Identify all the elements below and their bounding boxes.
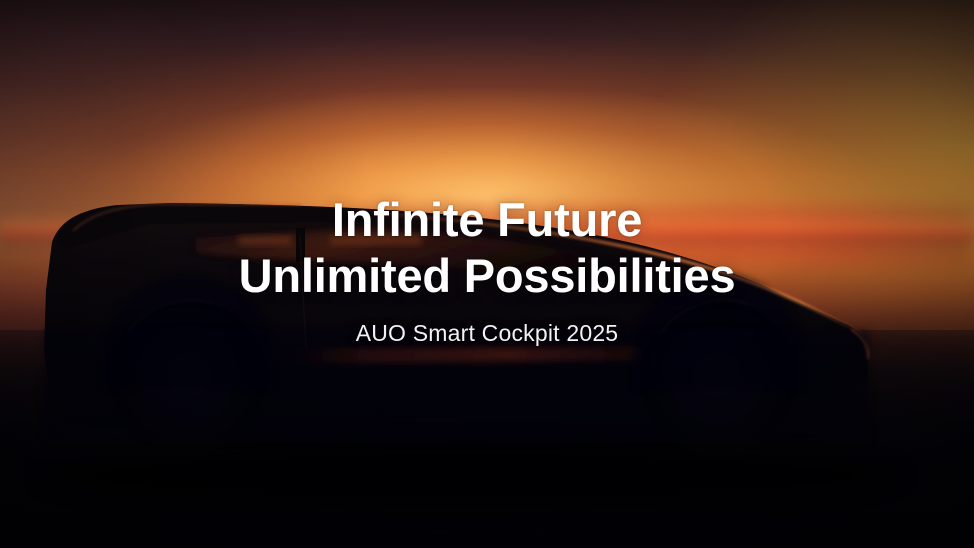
subtitle: AUO Smart Cockpit 2025 — [356, 319, 619, 347]
headline-line-1: Infinite Future — [332, 192, 642, 248]
text-overlay: Infinite Future Unlimited Possibilities … — [0, 0, 974, 548]
teaser-key-visual: Infinite Future Unlimited Possibilities … — [0, 0, 974, 548]
headline-line-2: Unlimited Possibilities — [239, 248, 736, 304]
